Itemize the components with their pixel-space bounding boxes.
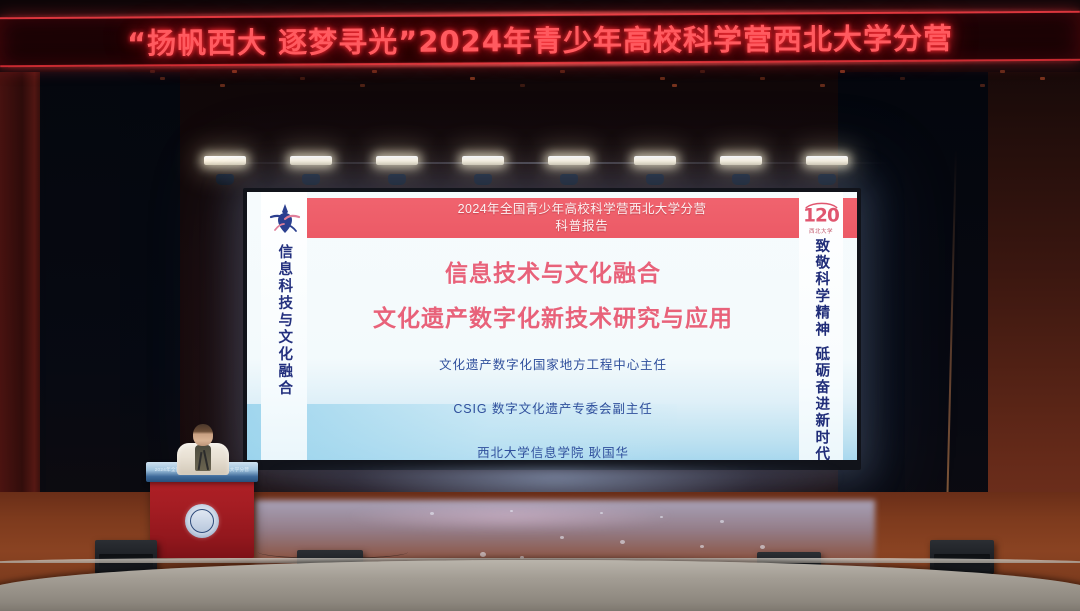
ceiling-speck [672, 84, 677, 87]
projection-screen: 120 西北大学 2024年全国青少年高校科学营西北大学分营 科普报告 信息科技… [247, 192, 857, 460]
floor-speck [560, 536, 564, 539]
auditorium-photo: “扬帆西大 逐梦寻光”2024年青少年高校科学营西北大学分营 [0, 0, 1080, 611]
presenter-figure [175, 424, 231, 474]
slide-header-line1: 2024年全国青少年高校科学营西北大学分营 [458, 202, 707, 218]
ceiling-speck [470, 77, 475, 80]
presenter-line2: CSIG 数字文化遗产专委会副主任 [315, 399, 791, 421]
ceiling-speck [150, 70, 155, 73]
ceiling-speck [820, 84, 825, 87]
slide-header-line2: 科普报告 [555, 218, 608, 234]
slide-body: 信息技术与文化融合 文化遗产数字化新技术研究与应用 文化遗产数字化国家地方工程中… [315, 244, 791, 454]
slide-right-banner-line2: 砥砺奋进新时代 [812, 346, 831, 460]
led-banner-text: “扬帆西大 逐梦寻光”2024年青少年高校科学营西北大学分营 [127, 15, 953, 62]
slide-title-line2: 文化遗产数字化新技术研究与应用 [315, 303, 791, 334]
ceiling-speck [1000, 70, 1005, 73]
star-person-icon [265, 200, 305, 240]
slide-right-banner-line1: 致敬科学精神 [812, 238, 831, 338]
stage-light-fixture [290, 156, 332, 165]
floor-speck [620, 540, 625, 544]
floor-speck [700, 545, 704, 548]
presenter-line3: 西北大学信息学院 耿国华 [315, 443, 791, 460]
floor-speck [720, 520, 724, 523]
par-can-icon [646, 174, 664, 185]
anniversary-120-icon: 120 西北大学 [797, 198, 845, 238]
ceiling-speck [160, 77, 165, 80]
ceiling-speck [900, 77, 905, 80]
floor-speck [510, 510, 513, 512]
ceiling-speck [700, 70, 705, 73]
floor-speck [430, 512, 434, 515]
stage-light-fixture [376, 156, 418, 165]
anniversary-subtitle: 西北大学 [809, 227, 833, 235]
ceiling-speck [980, 84, 985, 87]
par-can-icon [302, 174, 320, 185]
par-can-icon [732, 174, 750, 185]
presenter-line1: 文化遗产数字化国家地方工程中心主任 [315, 355, 791, 377]
par-can-icon [474, 174, 492, 185]
svg-text:120: 120 [803, 205, 839, 226]
projection-screen-frame: 120 西北大学 2024年全国青少年高校科学营西北大学分营 科普报告 信息科技… [243, 188, 861, 470]
ceiling-speck [300, 77, 305, 80]
floor-speck [480, 552, 486, 557]
floor-speck [660, 516, 663, 518]
ceiling-speck [372, 70, 377, 73]
emblem-inner-ring [190, 509, 214, 533]
stage-monitor-4 [930, 540, 994, 574]
lectern [150, 478, 254, 558]
ceiling-speck [660, 77, 665, 80]
ceiling-speck [520, 84, 525, 87]
par-can-icon [216, 174, 234, 185]
ceiling-speck [360, 84, 365, 87]
slide-left-banner-text: 信息科技与文化融合 [275, 244, 294, 397]
university-emblem-icon [185, 504, 219, 538]
lighting-truss [190, 140, 890, 186]
ceiling-speck [560, 70, 565, 73]
slide-header-band: 2024年全国青少年高校科学营西北大学分营 科普报告 [307, 198, 857, 238]
stage-light-fixture [806, 156, 848, 165]
presenter-head [193, 424, 213, 446]
ceiling-speck [220, 84, 225, 87]
par-can-icon [388, 174, 406, 185]
stage-light-fixture [204, 156, 246, 165]
ceiling-speck [760, 77, 765, 80]
ceiling-speck [840, 70, 845, 73]
slide-title-line1: 信息技术与文化融合 [315, 258, 791, 289]
ceiling-speck [1040, 77, 1045, 80]
par-can-icon [818, 174, 836, 185]
stage-light-fixture [634, 156, 676, 165]
floor-speck [600, 512, 603, 514]
stage-light-fixture [462, 156, 504, 165]
ceiling-speck [232, 70, 237, 73]
stage-light-fixture [548, 156, 590, 165]
stage-light-fixture [720, 156, 762, 165]
led-banner: “扬帆西大 逐梦寻光”2024年青少年高校科学营西北大学分营 [0, 11, 1080, 68]
floor-reflection-warm [300, 500, 720, 540]
par-can-icon [560, 174, 578, 185]
stage-wing-left [40, 72, 180, 492]
floor-speck [760, 545, 765, 549]
